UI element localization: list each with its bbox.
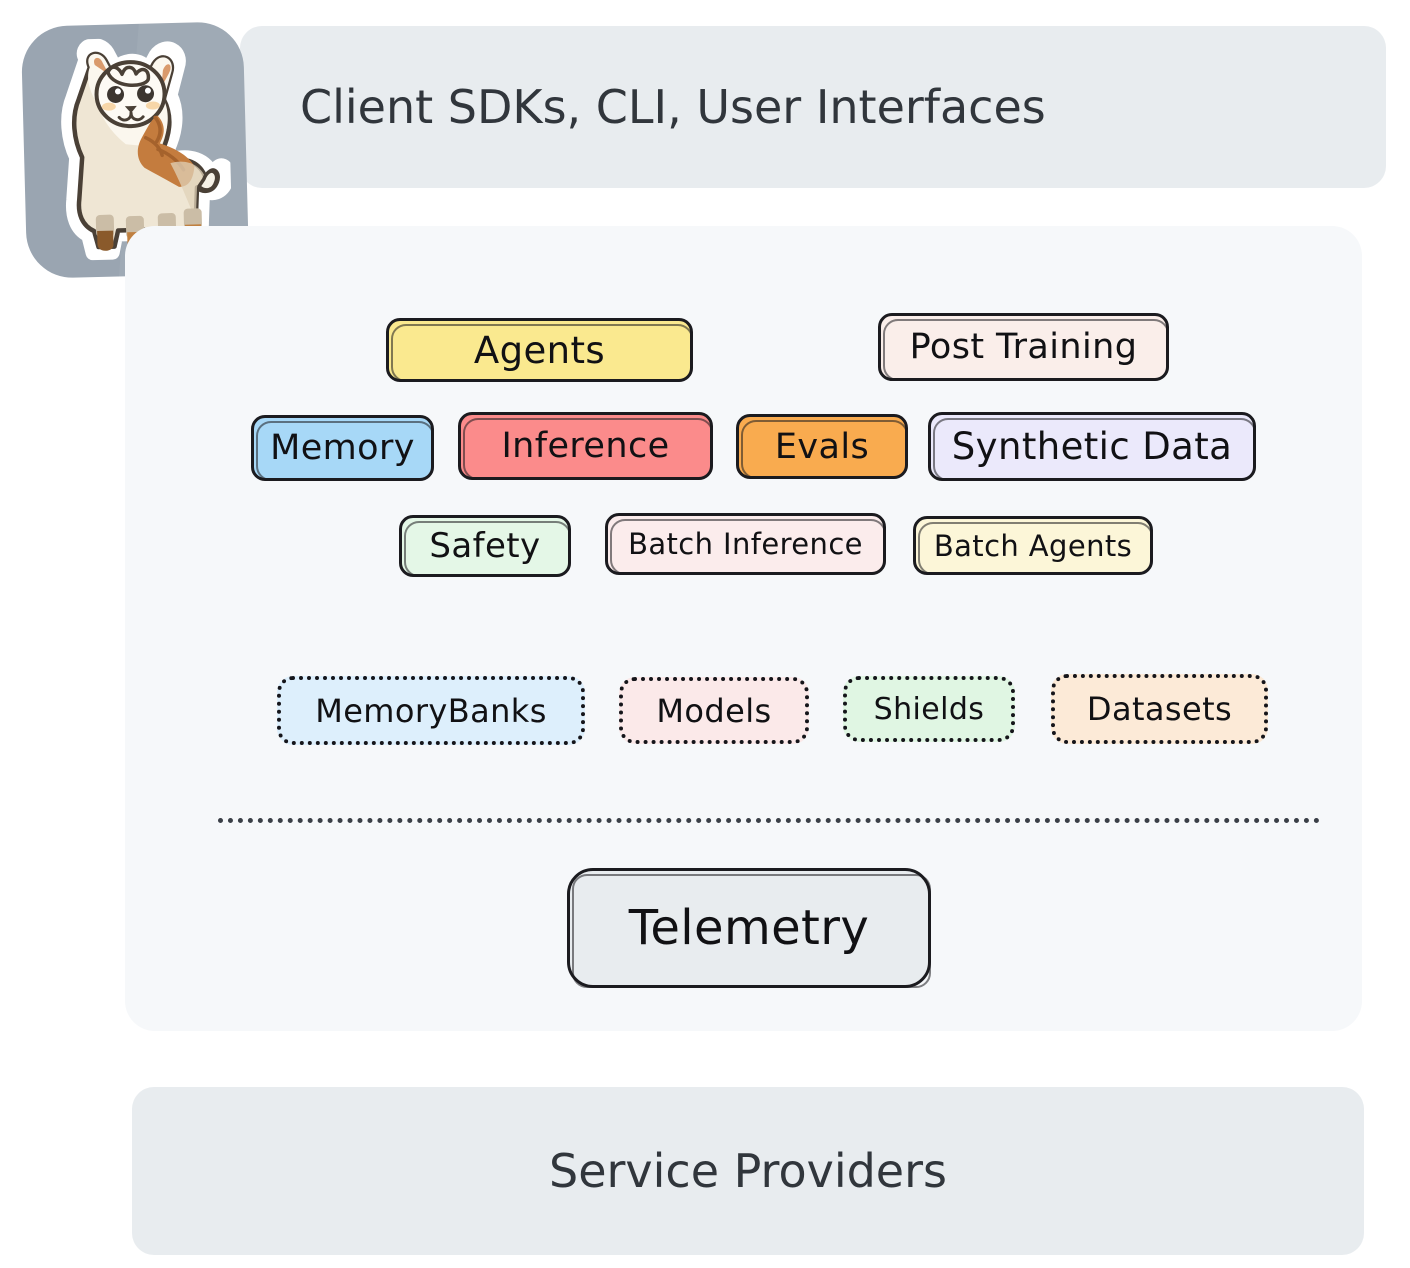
resource-box-label: Shields — [874, 692, 985, 727]
api-box-safety[interactable]: Safety — [399, 515, 571, 577]
resource-box-datasets[interactable]: Datasets — [1051, 674, 1268, 744]
api-box-post-training[interactable]: Post Training — [878, 313, 1169, 381]
resource-box-memorybanks[interactable]: MemoryBanks — [277, 676, 585, 745]
api-box-batch-inference[interactable]: Batch Inference — [605, 513, 886, 575]
resource-box-label: MemoryBanks — [315, 692, 547, 730]
api-box-label: Batch Inference — [628, 527, 863, 561]
header-banner: Client SDKs, CLI, User Interfaces — [240, 26, 1386, 188]
resource-box-label: Models — [656, 692, 771, 730]
tier-divider — [218, 818, 1320, 823]
resource-box-models[interactable]: Models — [619, 677, 809, 744]
telemetry-label: Telemetry — [629, 900, 869, 956]
api-box-evals[interactable]: Evals — [736, 414, 908, 479]
resource-box-shields[interactable]: Shields — [843, 676, 1015, 742]
page-title: Client SDKs, CLI, User Interfaces — [300, 80, 1046, 134]
api-box-label: Synthetic Data — [952, 425, 1232, 468]
resource-box-label: Datasets — [1087, 690, 1232, 728]
api-box-label: Post Training — [910, 327, 1138, 367]
footer-title: Service Providers — [549, 1144, 947, 1198]
api-box-label: Agents — [474, 329, 605, 372]
api-box-memory[interactable]: Memory — [251, 415, 434, 481]
api-box-inference[interactable]: Inference — [458, 412, 713, 480]
api-box-label: Batch Agents — [934, 529, 1132, 563]
api-box-synthetic-data[interactable]: Synthetic Data — [928, 412, 1256, 481]
api-box-agents[interactable]: Agents — [386, 318, 693, 382]
footer-banner: Service Providers — [132, 1087, 1364, 1255]
api-box-label: Safety — [429, 526, 540, 566]
api-box-label: Inference — [501, 426, 669, 466]
telemetry-box[interactable]: Telemetry — [567, 868, 931, 988]
api-box-batch-agents[interactable]: Batch Agents — [913, 516, 1153, 575]
api-box-label: Memory — [270, 428, 415, 468]
api-box-label: Evals — [775, 427, 869, 467]
